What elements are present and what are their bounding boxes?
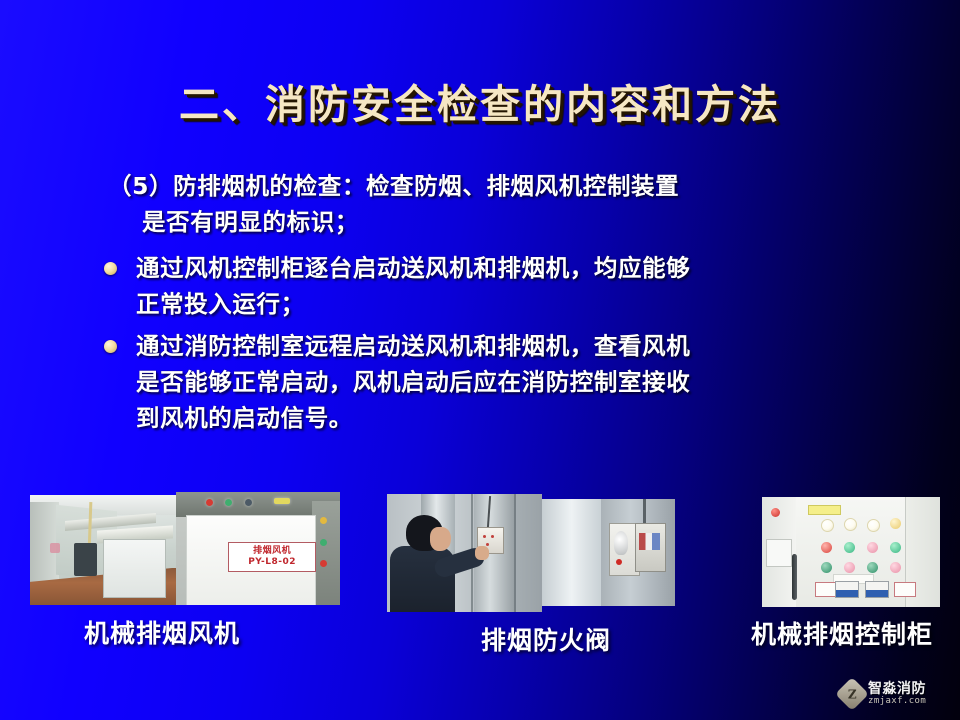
watermark: Z 智淼消防 zmjaxf.com — [840, 676, 952, 712]
intro-line-2: 是否有明显的标识； — [108, 204, 906, 240]
inspector-hand — [475, 546, 489, 560]
fan-id-sign: 排烟风机 PY-L8-02 — [228, 542, 315, 572]
photo-mechanical-smoke-exhaust-fan-room — [30, 495, 176, 605]
slide-body: （5）防排烟机的检查：检查防烟、排烟风机控制装置 是否有明显的标识； 通过风机控… — [96, 168, 906, 442]
page-title: 二、消防安全检查的内容和方法 — [0, 72, 960, 130]
watermark-text: 智淼消防 zmjaxf.com — [868, 682, 926, 706]
photo-exhaust-fan-control-panel: 排烟风机 PY-L8-02 — [176, 492, 340, 605]
indicator-lamp — [844, 518, 857, 531]
wall-sign — [50, 543, 60, 553]
cabinet-window — [766, 539, 793, 567]
bullet-item-2: 通过消防控制室远程启动送风机和排烟机，查看风机 是否能够正常启动，风机启动后应在… — [96, 328, 906, 436]
box-lamp — [491, 535, 494, 538]
fan-sign-line-2: PY-L8-02 — [229, 557, 314, 568]
paragraph-intro: （5）防排烟机的检查：检查防烟、排烟风机控制装置 是否有明显的标识； — [96, 168, 906, 240]
indicator-lamp — [821, 562, 832, 573]
bullet-2-line-2: 是否能够正常启动，风机启动后应在消防控制室接收 — [136, 368, 690, 396]
bullet-dot-icon — [104, 340, 117, 353]
box-lamp — [483, 535, 486, 538]
selector-switch — [865, 581, 889, 598]
brand-name: 智淼消防 — [868, 682, 926, 697]
indicator-lamp-red — [206, 499, 213, 506]
inspector-face — [430, 527, 450, 551]
cabinet-nameplate — [808, 505, 840, 516]
caption-left: 机械排烟风机 — [84, 614, 240, 650]
box-lamp — [486, 543, 489, 546]
indicator-lamp — [867, 562, 878, 573]
indicator-lamp-green — [225, 499, 232, 506]
indicator-lamp-dark — [245, 499, 252, 506]
photo-smoke-exhaust-fire-damper-closeup — [542, 499, 675, 606]
panel-door — [103, 539, 166, 598]
cable — [643, 499, 646, 525]
cabinet-handle — [792, 554, 797, 600]
bullet-2-line-1: 通过消防控制室远程启动送风机和排烟机，查看风机 — [136, 332, 690, 360]
caption-right: 机械排烟控制柜 — [751, 615, 933, 651]
bullet-item-1: 通过风机控制柜逐台启动送风机和排烟机，均应能够 正常投入运行； — [96, 250, 906, 322]
photo-smoke-exhaust-control-cabinet — [762, 497, 940, 607]
indicator-lamp — [890, 518, 901, 529]
power-lamp-red — [771, 508, 780, 517]
damper-label-strip — [639, 533, 660, 550]
bullet-1-line-2: 正常投入运行； — [136, 290, 305, 318]
brand-logo-icon: Z — [835, 677, 869, 711]
indicator-lamp — [821, 542, 832, 553]
indicator-lamp — [867, 519, 880, 532]
duct-surface — [542, 499, 601, 606]
slide-canvas: 二、消防安全检查的内容和方法 （5）防排烟机的检查：检查防烟、排烟风机控制装置 … — [0, 0, 960, 720]
photo-inspector-operating-damper — [387, 494, 542, 612]
indicator-lamp — [844, 542, 855, 553]
caption-middle: 排烟防火阀 — [481, 621, 611, 657]
button-plain — [894, 582, 916, 597]
brand-url: zmjaxf.com — [868, 697, 926, 706]
bullet-2-line-3: 到风机的启动信号。 — [136, 404, 353, 432]
selector-switch — [835, 581, 859, 598]
bullet-1-line-1: 通过风机控制柜逐台启动送风机和排烟机，均应能够 — [136, 254, 690, 282]
nameplate-yellow — [274, 498, 290, 504]
indicator-lamp — [890, 562, 901, 573]
duct-seam — [514, 494, 516, 612]
intro-line-1: （5）防排烟机的检查：检查防烟、排烟风机控制装置 — [108, 172, 679, 200]
cabinet-side — [312, 501, 340, 605]
fan-sign-line-1: 排烟风机 — [229, 546, 314, 557]
machine-unit — [74, 543, 97, 576]
fusible-link — [614, 531, 629, 555]
indicator-lamp — [844, 562, 855, 573]
brand-logo-glyph: Z — [848, 687, 857, 701]
indicator-lamp — [821, 519, 834, 532]
bullet-dot-icon — [104, 262, 117, 275]
